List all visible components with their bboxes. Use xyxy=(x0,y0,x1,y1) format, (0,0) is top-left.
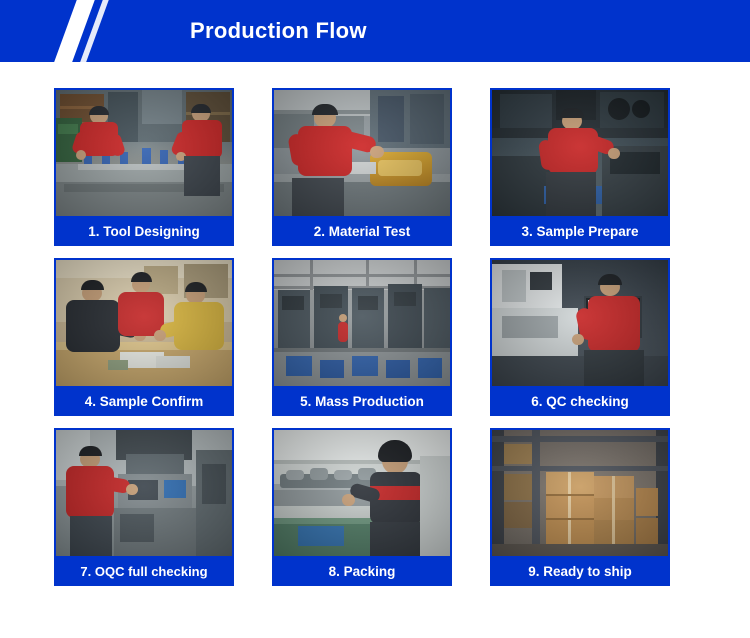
page-title: Production Flow xyxy=(190,18,367,44)
step-4-photo xyxy=(54,258,234,388)
step-4-caption: 4. Sample Confirm xyxy=(54,388,234,416)
step-card-5[interactable]: 5. Mass Production xyxy=(272,258,452,416)
step-2-photo xyxy=(272,88,452,218)
step-6-photo xyxy=(490,258,670,388)
step-card-9[interactable]: 9. Ready to ship xyxy=(490,428,670,586)
step-7-photo xyxy=(54,428,234,558)
step-5-photo xyxy=(272,258,452,388)
page-header: Production Flow xyxy=(0,0,750,62)
step-3-caption: 3. Sample Prepare xyxy=(490,218,670,246)
step-7-caption: 7. OQC full checking xyxy=(54,558,234,586)
step-2-caption: 2. Material Test xyxy=(272,218,452,246)
step-card-4[interactable]: 4. Sample Confirm xyxy=(54,258,234,416)
step-8-caption: 8. Packing xyxy=(272,558,452,586)
step-card-7[interactable]: 7. OQC full checking xyxy=(54,428,234,586)
step-card-2[interactable]: 2. Material Test xyxy=(272,88,452,246)
step-card-6[interactable]: 6. QC checking xyxy=(490,258,670,416)
production-flow-page: Production Flow xyxy=(0,0,750,638)
step-3-photo xyxy=(490,88,670,218)
step-card-1[interactable]: 1. Tool Designing xyxy=(54,88,234,246)
step-8-photo xyxy=(272,428,452,558)
step-card-8[interactable]: 8. Packing xyxy=(272,428,452,586)
step-6-caption: 6. QC checking xyxy=(490,388,670,416)
step-card-3[interactable]: 3. Sample Prepare xyxy=(490,88,670,246)
step-5-caption: 5. Mass Production xyxy=(272,388,452,416)
steps-grid: 1. Tool Designing xyxy=(0,62,750,638)
step-9-caption: 9. Ready to ship xyxy=(490,558,670,586)
step-1-caption: 1. Tool Designing xyxy=(54,218,234,246)
step-1-photo xyxy=(54,88,234,218)
step-9-photo xyxy=(490,428,670,558)
